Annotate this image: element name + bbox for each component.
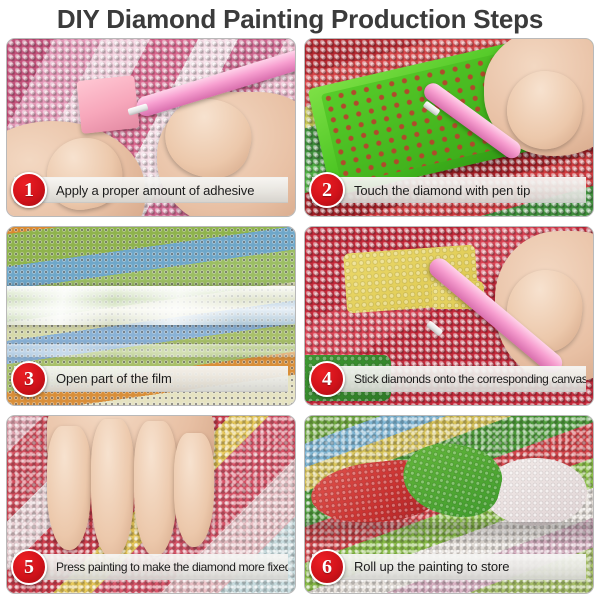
step-6-caption-bar: Roll up the painting to store (312, 554, 586, 580)
film-edge-shine (7, 344, 295, 356)
film-edge-lower (7, 344, 295, 356)
finger-2 (91, 419, 134, 557)
step-panel-6: Roll up the painting to store 6 (304, 415, 594, 594)
step-5-number: 5 (24, 557, 34, 577)
step-4-caption-bar: Stick diamonds onto the corresponding ca… (312, 366, 586, 392)
step-3-caption: Open part of the film (56, 371, 178, 386)
step-5-badge: 5 (11, 549, 47, 585)
adhesive-clay-square (76, 75, 139, 134)
step-panel-5: Press painting to make the diamond more … (6, 415, 296, 594)
step-panel-4: Stick diamonds onto the corresponding ca… (304, 226, 594, 405)
step-4-caption: Stick diamonds onto the corresponding ca… (354, 372, 586, 386)
step-1-caption: Apply a proper amount of adhesive (56, 183, 260, 198)
step-1-number: 1 (24, 180, 34, 200)
step-4-badge: 4 (309, 361, 345, 397)
step-3-caption-bar: Open part of the film (14, 366, 288, 392)
step-panel-3: Open part of the film 3 (6, 226, 296, 405)
page-title: DIY Diamond Painting Production Steps (57, 4, 543, 35)
finger-1 (47, 426, 90, 550)
finger-4 (174, 433, 214, 546)
title-bar: DIY Diamond Painting Production Steps (0, 0, 600, 38)
roll-curve-shadow (305, 522, 593, 543)
step-panel-1: Apply a proper amount of adhesive 1 (6, 38, 296, 217)
steps-grid: Apply a proper amount of adhesive 1 (0, 38, 600, 600)
step-2-number: 2 (322, 180, 332, 200)
step-3-number: 3 (24, 369, 34, 389)
step-5-caption: Press painting to make the diamond more … (56, 560, 288, 574)
step-6-number: 6 (322, 557, 332, 577)
film-shine (7, 286, 295, 325)
step-6-caption: Roll up the painting to store (354, 559, 515, 574)
step-panel-2: Touch the diamond with pen tip 2 (304, 38, 594, 217)
diy-diamond-painting-infographic: DIY Diamond Painting Production Steps Ap… (0, 0, 600, 600)
step-6-badge: 6 (309, 549, 345, 585)
step-1-caption-bar: Apply a proper amount of adhesive (14, 177, 288, 203)
step-3-badge: 3 (11, 361, 47, 397)
step-2-caption: Touch the diamond with pen tip (354, 183, 536, 198)
step-5-caption-bar: Press painting to make the diamond more … (14, 554, 288, 580)
finger-3 (134, 421, 177, 556)
protective-film (7, 286, 295, 325)
step-2-caption-bar: Touch the diamond with pen tip (312, 177, 586, 203)
step-4-number: 4 (322, 369, 332, 389)
